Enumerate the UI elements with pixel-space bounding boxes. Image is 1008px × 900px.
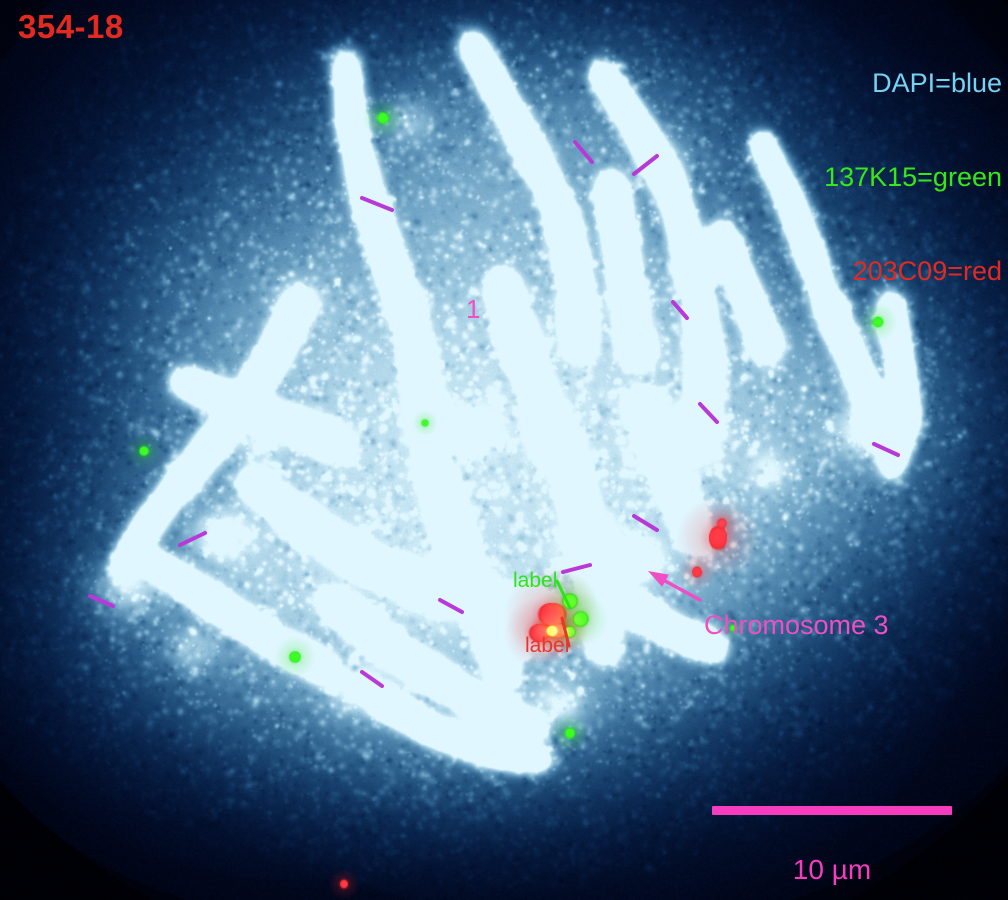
micrograph-figure: 354-18 DAPI=blue 137K15=green 203C09=red… (0, 0, 1008, 900)
figure-caption: Pink numbers next to SCs indicate order … (14, 833, 656, 900)
sc-order-number-1: 1 (466, 294, 480, 325)
scale-bar-label: 10 µm (712, 854, 952, 886)
channel-legend: DAPI=blue 137K15=green 203C09=red (824, 5, 1002, 349)
red-probe-label: label (525, 634, 569, 658)
legend-item-red-probe: 203C09=red (824, 256, 1002, 287)
legend-item-green-probe: 137K15=green (824, 162, 1002, 193)
scale-bar: 10 µm (712, 770, 952, 900)
chromosome-3-callout-label: Chromosome 3 (704, 610, 889, 641)
green-probe-label: label (513, 569, 557, 593)
scale-bar-line (712, 806, 952, 815)
specimen-id-label: 354-18 (18, 8, 124, 46)
legend-item-dapi: DAPI=blue (824, 68, 1002, 99)
